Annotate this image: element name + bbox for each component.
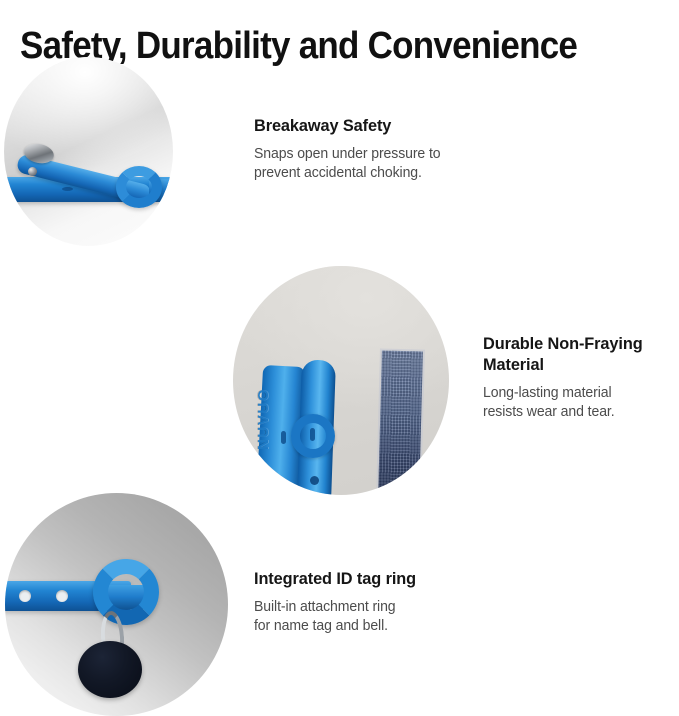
strap-hole [62, 187, 73, 191]
feature-text-durable-material: Durable Non-Fraying Material Long-lastin… [483, 333, 679, 422]
feature-description-line: for name tag and bell. [254, 618, 388, 634]
feature-title: Breakaway Safety [254, 115, 542, 136]
feature-description: Long-lasting material resists wear and t… [483, 384, 677, 422]
strap-slot [310, 428, 315, 441]
feature-text-id-tag-ring: Integrated ID tag ring Built-in attachme… [254, 568, 554, 636]
integrated-tag-ring [93, 559, 159, 625]
feature-description-line: Long-lasting material [483, 385, 612, 401]
feature-image-durable-material: NUVUO [233, 266, 449, 495]
feature-title-line: Material [483, 355, 544, 374]
velcro-strip [378, 350, 423, 495]
strap-hole [56, 590, 68, 602]
breakaway-buckle-loop [116, 166, 162, 208]
strap-slot [281, 431, 286, 444]
feature-description-line: Snaps open under pressure to [254, 146, 441, 162]
brand-logo-text: NUVUO [255, 340, 275, 450]
feature-description-line: prevent accidental choking. [254, 165, 422, 181]
id-tag [78, 641, 142, 698]
feature-description-line: resists wear and tear. [483, 404, 615, 420]
feature-description-line: Built-in attachment ring [254, 599, 396, 615]
strap-hole [310, 476, 319, 485]
strap-hole [19, 590, 31, 602]
feature-title-line: Durable Non-Fraying [483, 334, 643, 353]
feature-image-breakaway-safety [4, 57, 173, 246]
feature-description: Snaps open under pressure to prevent acc… [254, 145, 545, 183]
metal-rivet-icon [28, 167, 37, 176]
feature-title: Integrated ID tag ring [254, 568, 542, 589]
feature-text-breakaway-safety: Breakaway Safety Snaps open under pressu… [254, 115, 554, 183]
feature-title: Durable Non-Fraying Material [483, 333, 675, 375]
feature-description: Built-in attachment ring for name tag an… [254, 598, 545, 636]
feature-image-id-tag-ring [5, 493, 228, 716]
